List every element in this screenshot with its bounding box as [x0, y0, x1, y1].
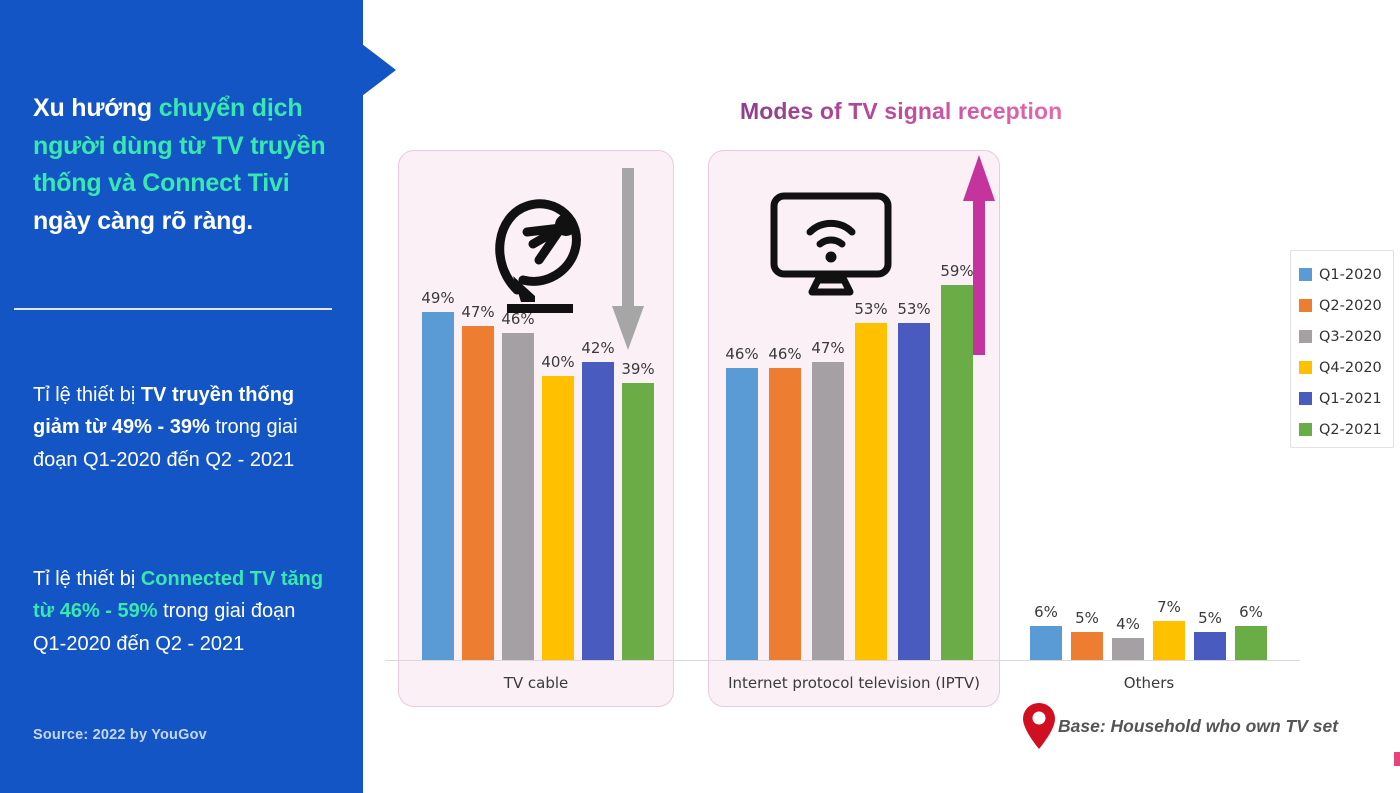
bar-value-label: 4% — [1116, 615, 1140, 633]
bar-value-label: 47% — [461, 303, 494, 321]
bar-q3-2020[interactable]: 47% — [812, 260, 844, 660]
bar-value-label: 6% — [1034, 603, 1058, 621]
legend-item-q2-2021[interactable]: Q2-2021 — [1299, 414, 1393, 445]
base-note: Base: Household who own TV set — [1022, 702, 1338, 750]
body1-part-0: Tỉ lệ thiết bị — [33, 384, 141, 406]
headline-part-2: ngày càng rõ ràng. — [33, 207, 253, 235]
bar-group-others: 6%5%4%7%5%6% — [1030, 600, 1268, 660]
bars-container: 6%5%4%7%5%6% — [1030, 600, 1267, 660]
map-pin-icon — [1022, 702, 1056, 750]
sidebar-panel: Xu hướng chuyển dịch người dùng từ TV tr… — [0, 0, 363, 793]
legend-swatch-icon — [1299, 299, 1312, 312]
corner-accent — [1394, 752, 1400, 766]
legend-swatch-icon — [1299, 392, 1312, 405]
legend-label: Q3-2020 — [1319, 329, 1382, 345]
bar-rect[interactable] — [502, 333, 534, 660]
bar-value-label: 59% — [940, 262, 973, 280]
bar-rect[interactable] — [898, 323, 930, 660]
bar-rect[interactable] — [462, 326, 494, 660]
bar-value-label: 46% — [768, 345, 801, 363]
bar-value-label: 46% — [501, 310, 534, 328]
legend-item-q4-2020[interactable]: Q4-2020 — [1299, 352, 1393, 383]
bar-rect[interactable] — [812, 362, 844, 660]
bar-value-label: 40% — [541, 353, 574, 371]
bar-rect[interactable] — [422, 312, 454, 660]
satellite-dish-icon — [487, 192, 595, 317]
body-text-traditional-tv: Tỉ lệ thiết bị TV truyền thống giảm từ 4… — [33, 379, 333, 476]
bar-q4-2020[interactable]: 7% — [1153, 600, 1185, 660]
slide-canvas: Xu hướng chuyển dịch người dùng từ TV tr… — [0, 0, 1400, 793]
chart-legend: Q1-2020Q2-2020Q3-2020Q4-2020Q1-2021Q2-20… — [1290, 250, 1394, 448]
bar-rect[interactable] — [726, 368, 758, 660]
legend-label: Q2-2021 — [1319, 422, 1382, 438]
bar-rect[interactable] — [1030, 626, 1062, 660]
category-label-tv-cable: TV cable — [398, 674, 674, 692]
bar-value-label: 6% — [1239, 603, 1263, 621]
chart-title: Modes of TV signal reception — [740, 98, 1062, 125]
bar-rect[interactable] — [1153, 621, 1185, 660]
bar-q1-2020[interactable]: 49% — [422, 300, 454, 660]
body2-part-0: Tỉ lệ thiết bị — [33, 568, 141, 590]
bar-value-label: 53% — [854, 300, 887, 318]
bar-value-label: 49% — [421, 289, 454, 307]
legend-label: Q2-2020 — [1319, 298, 1382, 314]
sidebar-pointer-arrow — [362, 44, 396, 96]
bar-rect[interactable] — [1112, 638, 1144, 660]
legend-label: Q1-2020 — [1319, 267, 1382, 283]
base-note-text: Base: Household who own TV set — [1058, 716, 1338, 737]
bar-q1-2020[interactable]: 6% — [1030, 600, 1062, 660]
legend-swatch-icon — [1299, 268, 1312, 281]
bar-value-label: 42% — [581, 339, 614, 357]
bar-value-label: 39% — [621, 360, 654, 378]
bar-q1-2020[interactable]: 46% — [726, 260, 758, 660]
legend-item-q1-2020[interactable]: Q1-2020 — [1299, 259, 1393, 290]
bar-value-label: 47% — [811, 339, 844, 357]
bar-rect[interactable] — [1235, 626, 1267, 660]
bar-q1-2021[interactable]: 53% — [898, 260, 930, 660]
bar-q4-2020[interactable]: 53% — [855, 260, 887, 660]
bar-rect[interactable] — [542, 376, 574, 660]
bar-group-tv-cable: 49%47%46%40%42%39% — [422, 300, 660, 660]
divider — [14, 308, 332, 310]
legend-swatch-icon — [1299, 330, 1312, 343]
bar-value-label: 53% — [897, 300, 930, 318]
bar-rect[interactable] — [582, 362, 614, 660]
headline-part-0: Xu hướng — [33, 94, 159, 122]
bar-q3-2020[interactable]: 46% — [502, 300, 534, 660]
source-label: Source: 2022 by YouGov — [33, 727, 207, 743]
legend-item-q3-2020[interactable]: Q3-2020 — [1299, 321, 1393, 352]
bar-rect[interactable] — [622, 383, 654, 660]
bar-rect[interactable] — [769, 368, 801, 660]
bar-q3-2020[interactable]: 4% — [1112, 600, 1144, 660]
bar-rect[interactable] — [1194, 632, 1226, 660]
bar-rect[interactable] — [941, 285, 973, 660]
bar-value-label: 5% — [1075, 609, 1099, 627]
bar-q2-2021[interactable]: 6% — [1235, 600, 1267, 660]
bar-q2-2021[interactable]: 39% — [622, 300, 654, 660]
bar-q2-2020[interactable]: 46% — [769, 260, 801, 660]
axis-baseline — [385, 660, 1300, 661]
legend-label: Q1-2021 — [1319, 391, 1382, 407]
bars-container: 46%46%47%53%53%59% — [726, 260, 973, 660]
category-label-others: Others — [1030, 674, 1268, 692]
bar-group-iptv: 46%46%47%53%53%59% — [726, 260, 980, 660]
bar-rect[interactable] — [855, 323, 887, 660]
bar-q1-2021[interactable]: 42% — [582, 300, 614, 660]
bar-value-label: 7% — [1157, 598, 1181, 616]
legend-swatch-icon — [1299, 361, 1312, 374]
bar-q4-2020[interactable]: 40% — [542, 300, 574, 660]
legend-label: Q4-2020 — [1319, 360, 1382, 376]
bar-q2-2020[interactable]: 47% — [462, 300, 494, 660]
bar-q2-2020[interactable]: 5% — [1071, 600, 1103, 660]
bar-value-label: 46% — [725, 345, 758, 363]
legend-swatch-icon — [1299, 423, 1312, 436]
bar-rect[interactable] — [1071, 632, 1103, 660]
bars-container: 49%47%46%40%42%39% — [422, 300, 654, 660]
bar-q1-2021[interactable]: 5% — [1194, 600, 1226, 660]
body-text-connected-tv: Tỉ lệ thiết bị Connected TV tăng từ 46% … — [33, 563, 333, 660]
bar-q2-2021[interactable]: 59% — [941, 260, 973, 660]
bar-value-label: 5% — [1198, 609, 1222, 627]
category-label-iptv: Internet protocol television (IPTV) — [708, 674, 1000, 692]
headline: Xu hướng chuyển dịch người dùng từ TV tr… — [33, 90, 333, 240]
legend-item-q2-2020[interactable]: Q2-2020 — [1299, 290, 1393, 321]
legend-item-q1-2021[interactable]: Q1-2021 — [1299, 383, 1393, 414]
